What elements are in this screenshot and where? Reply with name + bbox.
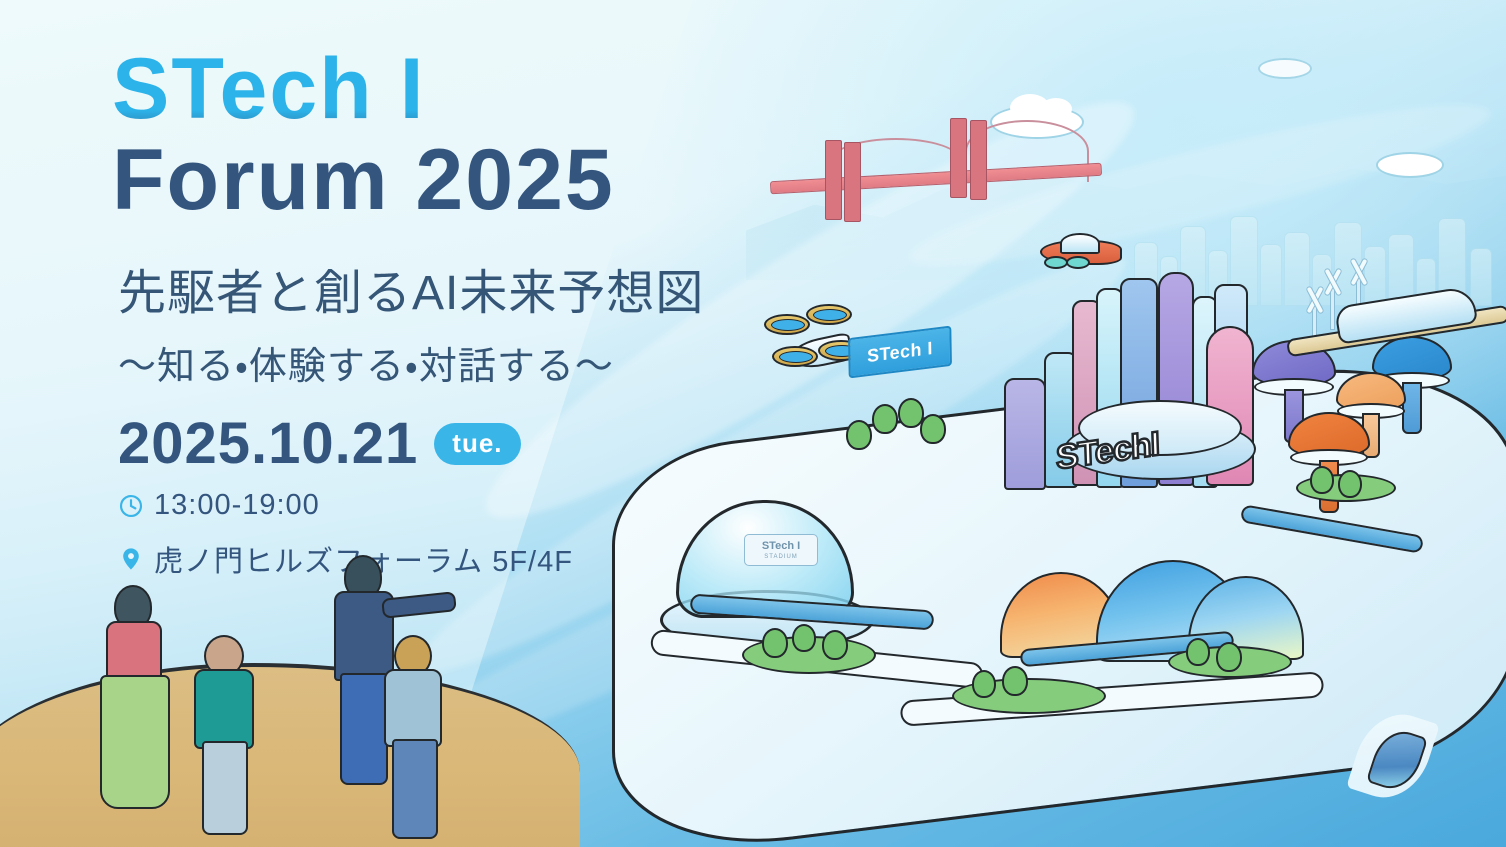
event-time: 13:00-19:00: [154, 489, 320, 522]
event-banner: STechI STech I STech I STADIUM: [0, 0, 1506, 847]
title-block: STech I Forum 2025 先駆者と創るAI未来予想図 〜知る・体験す…: [112, 48, 772, 390]
page-title: STech I Forum 2025: [112, 48, 772, 221]
title-line-1: STech I: [112, 48, 772, 131]
title-line-2: Forum 2025: [112, 139, 772, 222]
subtitle-main: 先駆者と創るAI未来予想図: [118, 253, 772, 323]
clock-icon: [118, 493, 144, 519]
day-of-week-badge: tue.: [434, 423, 520, 465]
date-row: 2025.10.21 tue.: [118, 415, 573, 473]
subtitle-sub: 〜知る・体験する・対話する〜: [118, 335, 772, 390]
event-date: 2025.10.21: [118, 415, 418, 473]
foreground-people: [0, 547, 560, 847]
time-row: 13:00-19:00: [118, 489, 573, 522]
